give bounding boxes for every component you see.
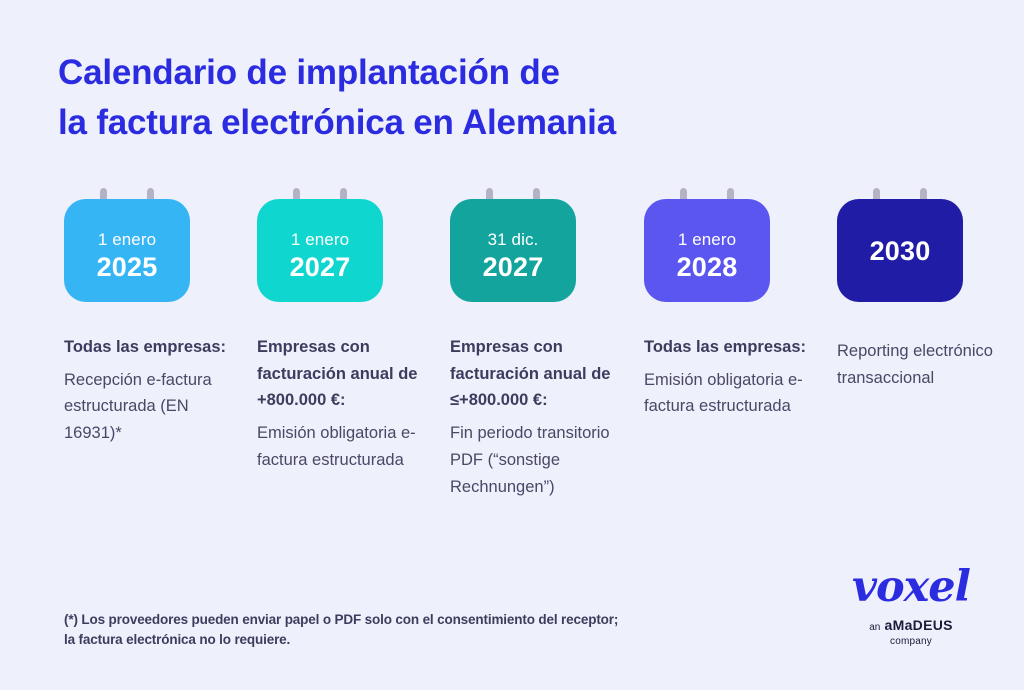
calendar-card-body-2030: 2030 xyxy=(837,199,963,302)
calendar-daymonth-2028: 1 enero xyxy=(678,229,736,250)
milestone-heading-2027-dic: Empresas con facturación anual de ≤+800.… xyxy=(450,334,615,414)
amadeus-an-label: an xyxy=(869,622,880,633)
milestone-body-2027-ene: Emisión obligatoria e-factura estructura… xyxy=(257,420,422,473)
milestone-heading-2027-ene: Empresas con facturación anual de +800.0… xyxy=(257,334,422,414)
milestone-column-2025: Todas las empresas: Recepción e-factura … xyxy=(64,334,234,447)
amadeus-wordmark: aMaDEUS xyxy=(885,617,953,633)
calendar-year-2030: 2030 xyxy=(870,235,931,267)
page-title-line-2: la factura electrónica en Alemania xyxy=(58,98,818,148)
milestone-body-2025: Recepción e-factura estructurada (EN 169… xyxy=(64,367,234,447)
footnote-line-1: (*) Los proveedores pueden enviar papel … xyxy=(64,610,754,630)
calendar-daymonth-2027-ene: 1 enero xyxy=(291,229,349,250)
calendar-card-2030: 2030 xyxy=(837,188,963,302)
amadeus-company-label: company xyxy=(836,637,986,647)
calendar-year-2027-dic: 2027 xyxy=(483,251,544,283)
amadeus-lockup: an aMaDEUS xyxy=(836,618,986,633)
milestone-heading-2025: Todas las empresas: xyxy=(64,334,234,361)
calendar-card-body-2028: 1 enero 2028 xyxy=(644,199,770,302)
calendar-card-2027-ene: 1 enero 2027 xyxy=(257,188,383,302)
footnote: (*) Los proveedores pueden enviar papel … xyxy=(64,610,754,649)
calendar-year-2027-ene: 2027 xyxy=(290,251,351,283)
footnote-line-2: la factura electrónica no lo requiere. xyxy=(64,630,754,650)
milestone-column-2030: Reporting electrónico transaccional xyxy=(837,338,1002,391)
calendar-card-body-2025: 1 enero 2025 xyxy=(64,199,190,302)
milestone-body-2030: Reporting electrónico transaccional xyxy=(837,338,1002,391)
milestone-body-2028: Emisión obligatoria e-factura estructura… xyxy=(644,367,809,420)
page-title-line-1: Calendario de implantación de xyxy=(58,48,818,98)
calendar-card-2028: 1 enero 2028 xyxy=(644,188,770,302)
voxel-amadeus-logo: voxel an aMaDEUS company xyxy=(836,566,986,647)
milestone-body-2027-dic: Fin periodo transitorio PDF (“sonstige R… xyxy=(450,420,615,500)
timeline-cards-row: 1 enero 2025 1 enero 2027 31 dic. 2027 xyxy=(64,188,968,306)
page-title: Calendario de implantación de la factura… xyxy=(58,48,818,147)
calendar-card-2025: 1 enero 2025 xyxy=(64,188,190,302)
milestone-heading-2028: Todas las empresas: xyxy=(644,334,809,361)
milestone-column-2027-dic: Empresas con facturación anual de ≤+800.… xyxy=(450,334,615,500)
milestone-descriptions: Todas las empresas: Recepción e-factura … xyxy=(64,334,1004,564)
milestone-column-2027-ene: Empresas con facturación anual de +800.0… xyxy=(257,334,422,474)
calendar-year-2025: 2025 xyxy=(97,251,158,283)
calendar-daymonth-2027-dic: 31 dic. xyxy=(488,229,539,250)
calendar-daymonth-2025: 1 enero xyxy=(98,229,156,250)
calendar-card-body-2027-ene: 1 enero 2027 xyxy=(257,199,383,302)
voxel-wordmark: voxel xyxy=(836,566,986,609)
calendar-card-2027-dic: 31 dic. 2027 xyxy=(450,188,576,302)
infographic-canvas: Calendario de implantación de la factura… xyxy=(0,0,1024,690)
calendar-card-body-2027-dic: 31 dic. 2027 xyxy=(450,199,576,302)
calendar-year-2028: 2028 xyxy=(677,251,738,283)
milestone-column-2028: Todas las empresas: Emisión obligatoria … xyxy=(644,334,809,420)
